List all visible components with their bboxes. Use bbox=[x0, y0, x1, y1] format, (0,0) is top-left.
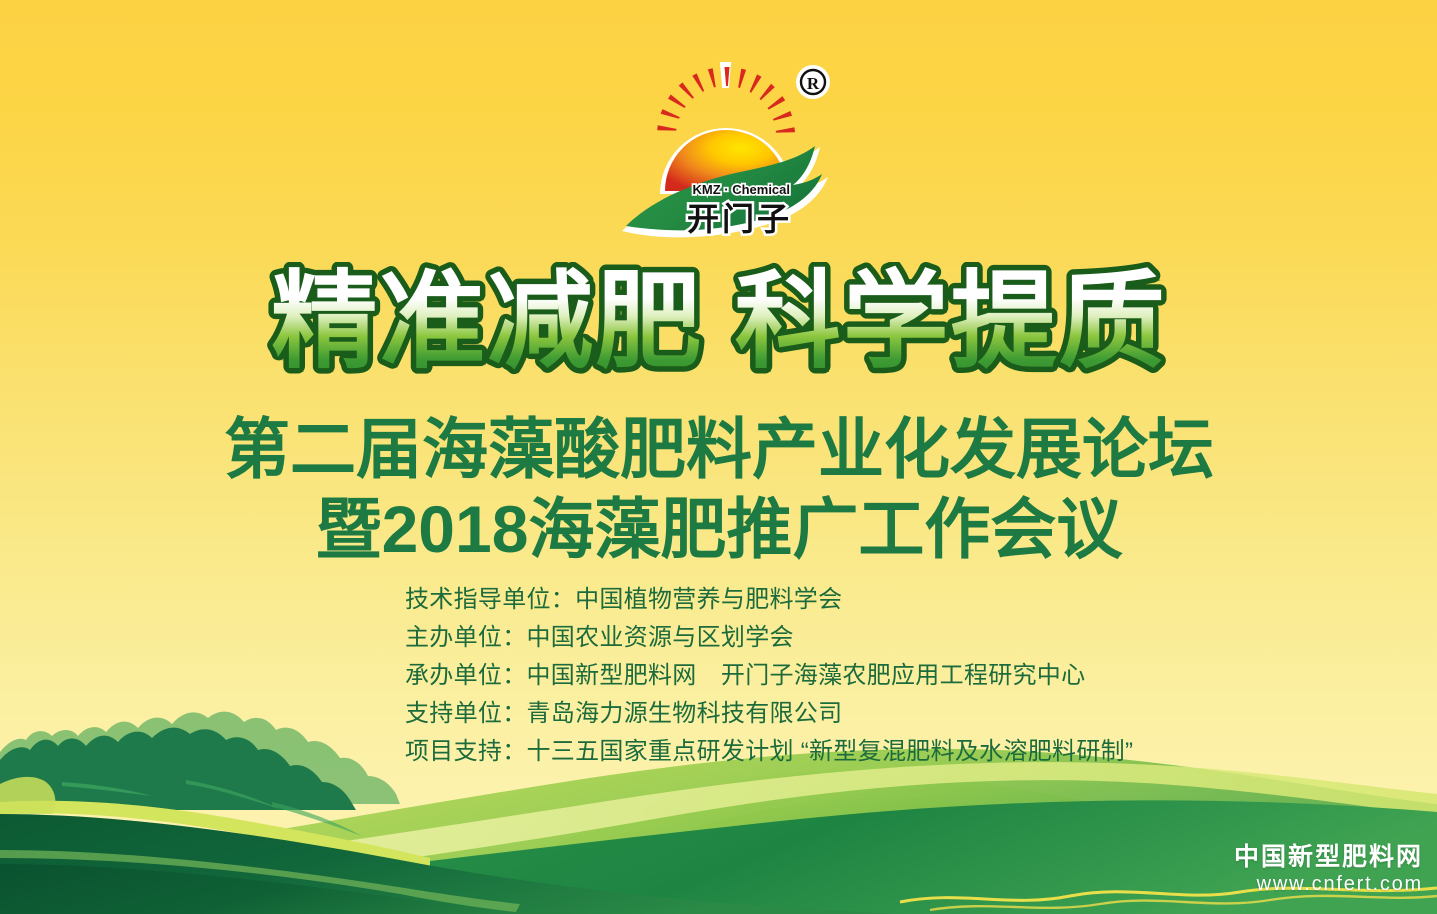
detail-line-project-support: 项目支持：十三五国家重点研发计划 “新型复混肥料及水溶肥料研制” bbox=[405, 736, 1133, 768]
detail-line-technical-guidance: 技术指导单位：中国植物营养与肥料学会 bbox=[405, 584, 1133, 616]
headline: 精准减肥 科学提质 精准减肥 科学提质 精准减肥 科学提质 bbox=[0, 262, 1437, 392]
watermark-url: www.cnfert.com bbox=[1234, 872, 1423, 896]
detail-line-organizer: 主办单位：中国农业资源与区划学会 bbox=[405, 622, 1133, 654]
trademark-icon: R bbox=[796, 65, 830, 99]
company-logo: KMZ · Chemical KMZ · Chemical 开门子 开门子 R bbox=[606, 58, 846, 244]
detail-line-undertaker: 承办单位：中国新型肥料网 开门子海藻农肥应用工程研究中心 bbox=[405, 660, 1133, 692]
logo-brand-text: KMZ · Chemical KMZ · Chemical 开门子 开门子 bbox=[686, 182, 791, 237]
detail-lines: 技术指导单位：中国植物营养与肥料学会 主办单位：中国农业资源与区划学会 承办单位… bbox=[405, 584, 1133, 768]
logo-brand-cn: 开门子 bbox=[686, 201, 791, 237]
conference-banner: KMZ · Chemical KMZ · Chemical 开门子 开门子 R bbox=[0, 0, 1437, 914]
detail-line-supporter: 支持单位：青岛海力源生物科技有限公司 bbox=[405, 698, 1133, 730]
subtitle-line-2: 暨2018海藻肥推广工作会议 bbox=[315, 492, 1123, 566]
logo-brand-en: KMZ · Chemical bbox=[692, 182, 790, 197]
headline-text: 精准减肥 科学提质 bbox=[271, 263, 1166, 381]
watermark-site-name: 中国新型肥料网 bbox=[1234, 842, 1423, 872]
subtitle-line-1: 第二届海藻酸肥料产业化发展论坛 bbox=[224, 412, 1214, 486]
svg-text:R: R bbox=[806, 74, 819, 93]
subtitle-block: 第二届海藻酸肥料产业化发展论坛 暨2018海藻肥推广工作会议 bbox=[0, 398, 1437, 568]
watermark: 中国新型肥料网 www.cnfert.com bbox=[1234, 842, 1423, 896]
sun-rays-icon bbox=[657, 64, 795, 134]
